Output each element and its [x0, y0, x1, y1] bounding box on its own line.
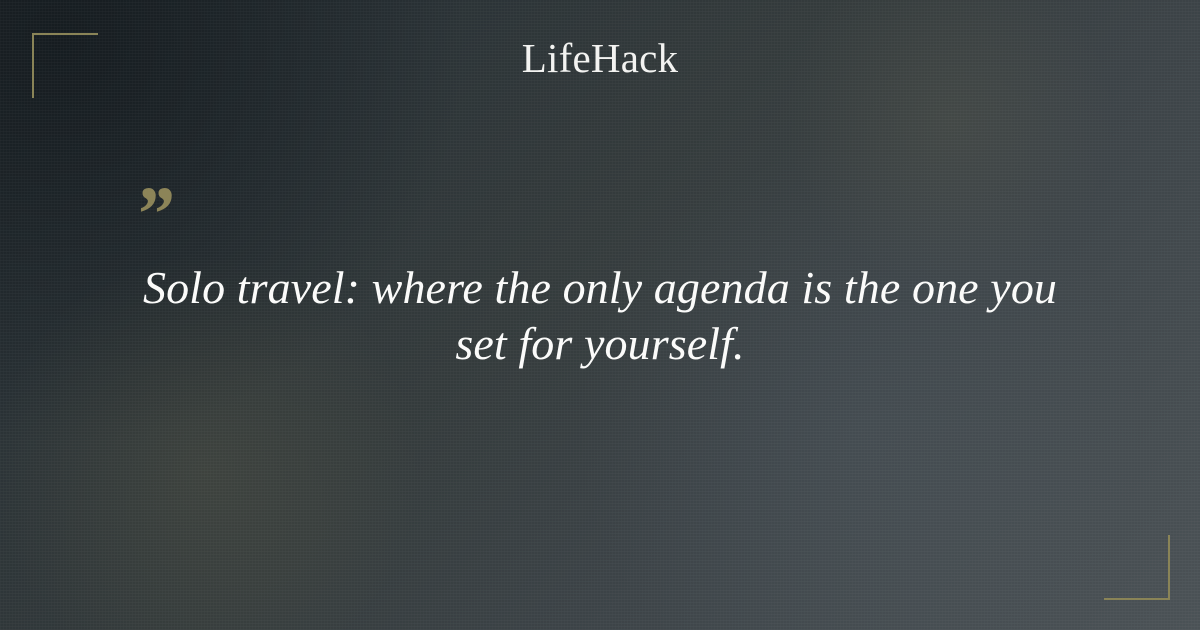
- corner-bracket-bottom-right-icon: [1104, 535, 1170, 600]
- quotation-mark-icon: ”: [134, 190, 1070, 240]
- brand-logo: LifeHack: [0, 38, 1200, 79]
- quote-card: LifeHack ” Solo travel: where the only a…: [0, 0, 1200, 630]
- quote-block: ” Solo travel: where the only agenda is …: [130, 190, 1070, 372]
- quote-text: Solo travel: where the only agenda is th…: [130, 260, 1070, 372]
